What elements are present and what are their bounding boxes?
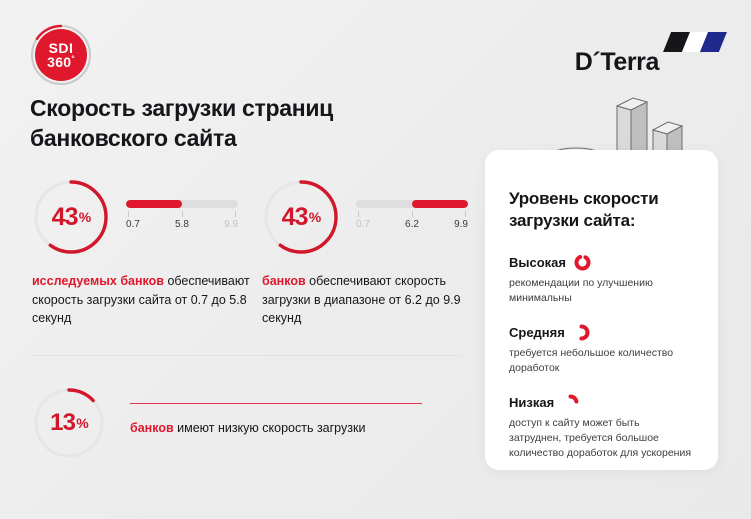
legend-head-low: Низкая	[509, 394, 694, 411]
bottom-note-rest: имеют низкую скорость загрузки	[174, 421, 366, 435]
range-slider-ticks-1	[126, 211, 238, 218]
range-slider-labels-1: 0.7 5.8 9.9	[126, 219, 238, 233]
range-label-end-1: 9.9	[224, 219, 238, 230]
range-slider-ticks-2	[356, 211, 468, 218]
donut-value-3: 13 %	[32, 386, 106, 460]
legend-desc-low: доступ к сайту может быть затруднен, тре…	[509, 416, 694, 461]
donut-chart-2: 43 %	[262, 178, 340, 256]
legend-head-high: Высокая	[509, 254, 694, 271]
metric-block-3: 13 %	[32, 386, 106, 460]
metric-caption-1: исследуемых банков обеспечивают скорость…	[32, 272, 264, 328]
range-slider-fill-2	[412, 200, 468, 208]
range-label-mid-1: 5.8	[175, 219, 189, 230]
metric-caption-highlight-2: банков	[262, 274, 306, 288]
gauge-low-icon	[562, 394, 579, 411]
range-label-start-1: 0.7	[126, 219, 140, 230]
donut-number-3: 13	[50, 409, 75, 437]
legend-label-high: Высокая	[509, 255, 566, 270]
range-slider-2: 0.7 6.2 9.9	[356, 200, 468, 233]
gauge-medium-icon	[573, 324, 590, 341]
sdi-badge-line2: 360°	[47, 55, 75, 69]
range-label-end-2: 9.9	[454, 219, 468, 230]
page-title: Скорость загрузки страниц банковского са…	[30, 93, 450, 154]
metric-block-2: 43 % 0.7 6.2 9.9	[262, 178, 468, 256]
donut-chart-1: 43 %	[32, 178, 110, 256]
legend-item-medium: Средняя требуется небольшое количество д…	[509, 324, 694, 376]
range-slider-labels-2: 0.7 6.2 9.9	[356, 219, 468, 233]
legend-desc-medium: требуется небольшое количество доработок	[509, 346, 694, 376]
dterra-logo: D´Terra	[575, 30, 723, 77]
legend-item-high: Высокая рекомендации по улучшению минима…	[509, 254, 694, 306]
bottom-note-highlight: банков	[130, 421, 174, 435]
sdi-badge-disc: SDI 360°	[35, 29, 87, 81]
metric-caption-2: банков обеспечивают скорость загрузки в …	[262, 272, 474, 328]
legend-desc-high: рекомендации по улучшению минимальны	[509, 276, 694, 306]
legend-label-medium: Средняя	[509, 325, 565, 340]
range-label-start-2: 0.7	[356, 219, 370, 230]
donut-chart-3: 13 %	[32, 386, 106, 460]
bottom-note-text: банков имеют низкую скорость загрузки	[130, 419, 450, 437]
sdi-360-logo: SDI 360°	[30, 24, 92, 86]
legend-item-low: Низкая доступ к сайту может быть затрудн…	[509, 394, 694, 461]
donut-number-2: 43	[282, 203, 308, 232]
donut-value-1: 43 %	[32, 178, 110, 256]
infographic-canvas: SDI 360° D´Terra Скорость загрузки стран…	[0, 0, 751, 519]
range-slider-1: 0.7 5.8 9.9	[126, 200, 238, 233]
gauge-high-icon	[574, 254, 591, 271]
bottom-note: банков имеют низкую скорость загрузки	[130, 403, 450, 437]
donut-percent-sign-1: %	[79, 209, 91, 225]
metric-caption-highlight-1: исследуемых банков	[32, 274, 164, 288]
dterra-flag-icon	[663, 32, 727, 52]
metric-block-1: 43 % 0.7 5.8 9.9	[32, 178, 238, 256]
donut-percent-sign-2: %	[309, 209, 321, 225]
bottom-rule	[130, 403, 422, 404]
sdi-badge-line1: SDI	[49, 41, 74, 55]
donut-percent-sign-3: %	[76, 415, 88, 431]
speed-level-title: Уровень скорости загрузки сайта:	[509, 188, 694, 232]
section-divider	[32, 355, 462, 356]
legend-head-medium: Средняя	[509, 324, 694, 341]
legend-label-low: Низкая	[509, 395, 554, 410]
range-slider-track-2	[356, 200, 468, 208]
donut-value-2: 43 %	[262, 178, 340, 256]
speed-level-card: Уровень скорости загрузки сайта: Высокая…	[485, 150, 718, 470]
donut-number-1: 43	[52, 203, 78, 232]
range-slider-track-1	[126, 200, 238, 208]
dterra-wordmark: D´Terra	[575, 48, 659, 77]
range-label-mid-2: 6.2	[405, 219, 419, 230]
range-slider-fill-1	[126, 200, 182, 208]
